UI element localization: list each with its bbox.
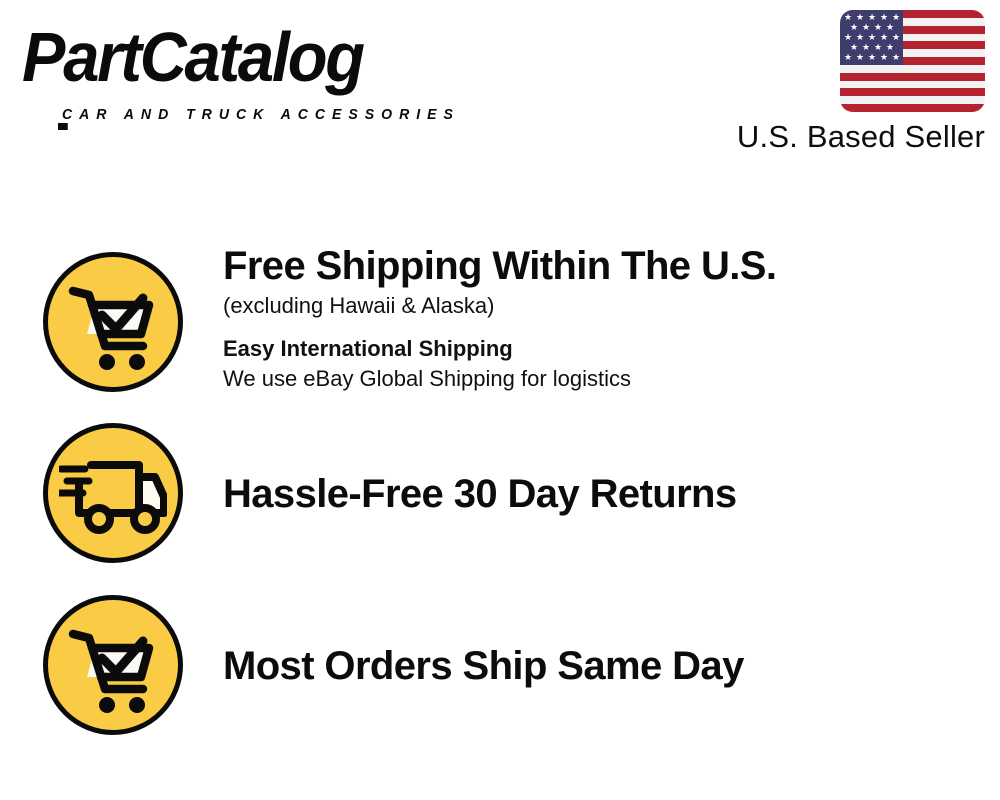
brand-tagline: CAR AND TRUCK ACCESSORIES (62, 107, 460, 123)
flag-canton: ★ ★ ★ ★ ★ ★ ★ ★ ★ ★ ★ ★ ★ ★ ★ ★ ★ ★ ★ ★ … (840, 10, 903, 65)
feature-row: Hassle-Free 30 Day Returns (0, 419, 1000, 590)
feature-subtitle-detail: We use eBay Global Shipping for logistic… (223, 364, 990, 394)
page-header: PartCatalog CAR AND TRUCK ACCESSORIES ★ … (0, 0, 1000, 170)
feature-title: Hassle-Free 30 Day Returns (223, 471, 990, 517)
feature-title: Most Orders Ship Same Day (223, 643, 990, 689)
us-flag-icon: ★ ★ ★ ★ ★ ★ ★ ★ ★ ★ ★ ★ ★ ★ ★ ★ ★ ★ ★ ★ … (840, 10, 985, 112)
us-based-seller-label: U.S. Based Seller (737, 119, 985, 155)
delivery-truck-icon (43, 423, 183, 563)
flag-stripe (840, 96, 985, 104)
flag-stripe (840, 88, 985, 96)
feature-row: Most Orders Ship Same Day (0, 591, 1000, 751)
feature-text-block: Hassle-Free 30 Day Returns (223, 471, 990, 517)
flag-stripe (840, 104, 985, 112)
brand-wordmark: PartCatalog (22, 18, 363, 96)
shopping-cart-check-icon (43, 595, 183, 735)
feature-text-block: Free Shipping Within The U.S. (excluding… (223, 243, 990, 394)
feature-subtitle-bold: Easy International Shipping (223, 334, 990, 364)
shopping-cart-check-icon (43, 252, 183, 392)
feature-subtitle: (excluding Hawaii & Alaska) (223, 291, 990, 321)
brand-logo-swash (58, 123, 502, 130)
flag-stripe (840, 81, 985, 89)
flag-stripe (840, 65, 985, 73)
feature-title: Free Shipping Within The U.S. (223, 243, 990, 289)
flag-stripe (840, 73, 985, 81)
brand-logo[interactable]: PartCatalog CAR AND TRUCK ACCESSORIES (22, 22, 492, 112)
feature-row: Free Shipping Within The U.S. (excluding… (0, 248, 1000, 423)
feature-text-block: Most Orders Ship Same Day (223, 643, 990, 689)
